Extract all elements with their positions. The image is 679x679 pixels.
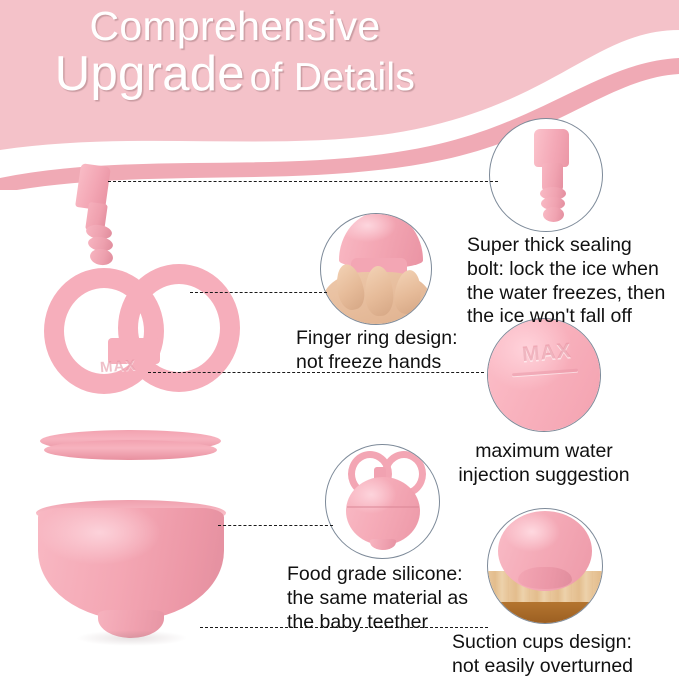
lid-max-mark: MAX <box>99 357 136 376</box>
callout-circle-suction-cups <box>487 508 603 624</box>
connector-food-grade <box>218 525 333 526</box>
assembled-mold-photo <box>326 445 439 558</box>
lid-lip-2 <box>44 440 217 460</box>
callout-circle-finger-ring <box>320 213 432 325</box>
wood-edge-side <box>488 602 602 623</box>
bowl-body <box>38 508 224 620</box>
hand-holding-mold-photo <box>321 214 431 324</box>
caption-finger-ring: Finger ring design: not freeze hands <box>296 327 511 375</box>
max-embossed-text: MAX <box>521 339 573 367</box>
suction-cup-base <box>518 567 572 589</box>
bolt-tip-closeup <box>543 207 564 222</box>
connector-sealing-bolt <box>108 181 498 182</box>
assembled-suction-foot <box>370 539 396 550</box>
caption-food-grade: Food grade silicone: the same material a… <box>287 563 502 634</box>
suction-cup-on-wood-photo <box>488 509 602 623</box>
product-lid-with-rings: MAX <box>38 258 238 458</box>
product-bowl <box>36 500 236 652</box>
infographic-canvas: Comprehensive Upgrade of Details MAX <box>0 0 679 679</box>
bolt-head-closeup <box>534 129 569 167</box>
caption-sealing-bolt: Super thick sealing bolt: lock the ice w… <box>467 234 677 329</box>
assembled-seam-line <box>347 506 419 508</box>
caption-max-mark: maximum water injection suggestion <box>449 440 639 488</box>
assembled-sphere-body <box>346 477 420 545</box>
callout-circle-sealing-bolt <box>489 118 603 232</box>
callout-circle-food-grade <box>325 444 440 559</box>
sealing-bolt-photo <box>490 119 602 231</box>
caption-suction-cups: Suction cups design: not easily overturn… <box>452 631 677 679</box>
connector-finger-ring <box>190 292 327 293</box>
bowl-shadow <box>76 630 188 646</box>
